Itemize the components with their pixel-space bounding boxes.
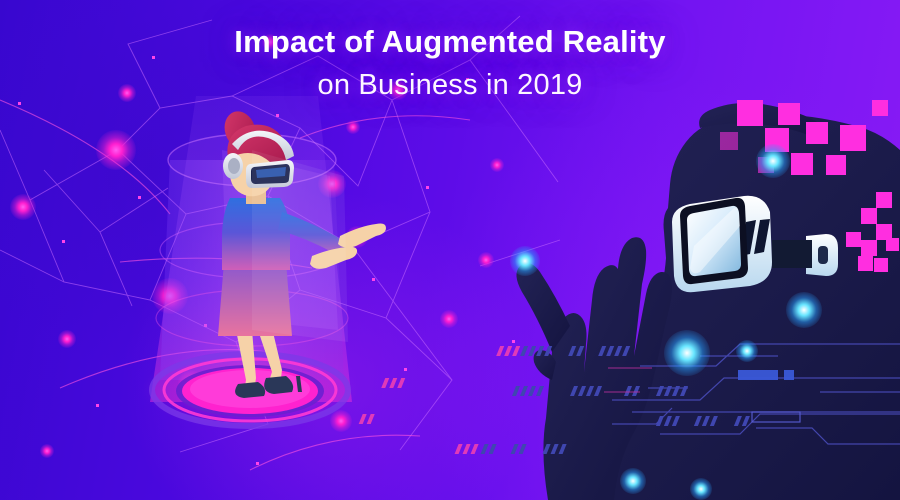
title-line-2: on Business in 2019 [0, 64, 900, 106]
ar-business-banner: Impact of Augmented Reality on Business … [0, 0, 900, 500]
title-line-1: Impact of Augmented Reality [0, 22, 900, 62]
banner-title: Impact of Augmented Reality on Business … [0, 22, 900, 106]
